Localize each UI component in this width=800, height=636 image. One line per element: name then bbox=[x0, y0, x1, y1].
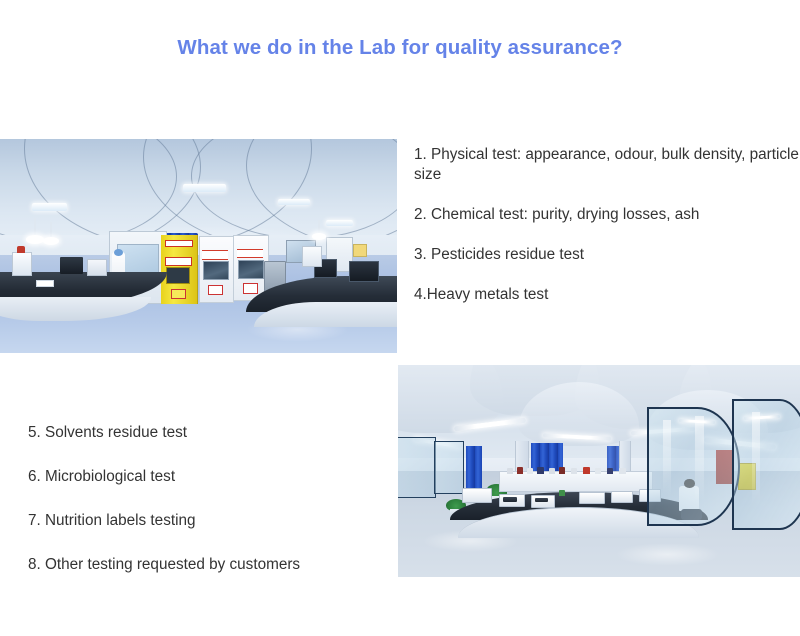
lab-instrument bbox=[579, 492, 605, 504]
page-title: What we do in the Lab for quality assura… bbox=[0, 36, 800, 60]
bench-paper bbox=[36, 280, 54, 287]
reagent-bottle bbox=[583, 467, 590, 475]
reagent-bottle bbox=[559, 467, 565, 474]
instrument-display bbox=[535, 498, 548, 502]
list-item: 7. Nutrition labels testing bbox=[28, 511, 398, 531]
lab-instrument bbox=[462, 488, 492, 503]
cabinet-warning-label bbox=[165, 257, 192, 266]
bench-instrument bbox=[12, 252, 32, 275]
test-list-left: 5. Solvents residue test 6. Microbiologi… bbox=[28, 423, 398, 599]
bench-instrument bbox=[302, 246, 322, 267]
cabinet-warning-label bbox=[237, 249, 263, 258]
glass-partition bbox=[398, 437, 436, 498]
reagent-bottle bbox=[559, 490, 565, 496]
bench-instrument bbox=[60, 257, 84, 274]
lab-instrument bbox=[611, 491, 633, 503]
list-item: 3. Pesticides residue test bbox=[414, 245, 800, 265]
ceiling-lamp bbox=[312, 233, 326, 240]
wall-sign bbox=[353, 244, 367, 257]
cabinet-window bbox=[166, 267, 190, 284]
ceiling-light bbox=[278, 199, 310, 205]
reagent-bottle bbox=[595, 468, 601, 474]
ceiling-lamp bbox=[26, 235, 44, 244]
cabinet-window bbox=[238, 260, 264, 279]
computer-monitor bbox=[349, 261, 379, 282]
photo-top-scene bbox=[0, 139, 397, 353]
list-item: 6. Microbiological test bbox=[28, 467, 398, 487]
list-item: 2. Chemical test: purity, drying losses,… bbox=[414, 205, 800, 225]
glass-reflection bbox=[752, 412, 760, 505]
bench-instrument bbox=[87, 259, 107, 276]
list-item: 4.Heavy metals test bbox=[414, 285, 800, 305]
instrument-display bbox=[503, 497, 517, 501]
ceiling-light bbox=[326, 220, 354, 226]
cabinet-warning-label bbox=[202, 250, 228, 259]
reagent-bottle bbox=[619, 468, 625, 474]
reagent-bottle bbox=[507, 468, 513, 474]
technician-cap bbox=[114, 249, 123, 256]
cabinet-warning-label bbox=[165, 240, 193, 248]
ceiling-lamp bbox=[43, 237, 59, 245]
hazard-sign bbox=[171, 289, 186, 300]
blue-curtain bbox=[466, 446, 482, 488]
reagent-bottle bbox=[537, 467, 544, 475]
laboratory-panorama-curved-bench-image bbox=[398, 365, 800, 577]
reagent-bottle bbox=[527, 468, 533, 474]
cabinet-window bbox=[203, 261, 229, 280]
laboratory-panorama-fume-hoods-image bbox=[0, 139, 397, 353]
reagent-shelf bbox=[499, 471, 654, 492]
hazard-sign bbox=[243, 283, 258, 293]
glass-partition bbox=[434, 441, 464, 494]
hazard-sign bbox=[208, 285, 223, 295]
glass-reflection bbox=[663, 420, 671, 496]
glass-partition bbox=[647, 407, 739, 525]
reagent-bottle bbox=[549, 468, 555, 474]
list-item: 8. Other testing requested by customers bbox=[28, 555, 398, 575]
reagent-bottle bbox=[607, 468, 613, 475]
ceiling-light bbox=[32, 203, 68, 210]
ceiling-light bbox=[183, 184, 227, 193]
list-item: 1. Physical test: appearance, odour, bul… bbox=[414, 145, 800, 185]
reagent-bottle bbox=[17, 246, 25, 253]
glass-reflection bbox=[695, 416, 703, 501]
slide-canvas: What we do in the Lab for quality assura… bbox=[0, 0, 800, 636]
reagent-bottle bbox=[517, 467, 523, 475]
list-item: 5. Solvents residue test bbox=[28, 423, 398, 443]
test-list-right: 1. Physical test: appearance, odour, bul… bbox=[414, 145, 800, 324]
reagent-bottle bbox=[571, 468, 577, 474]
photo-bottom-scene bbox=[398, 365, 800, 577]
